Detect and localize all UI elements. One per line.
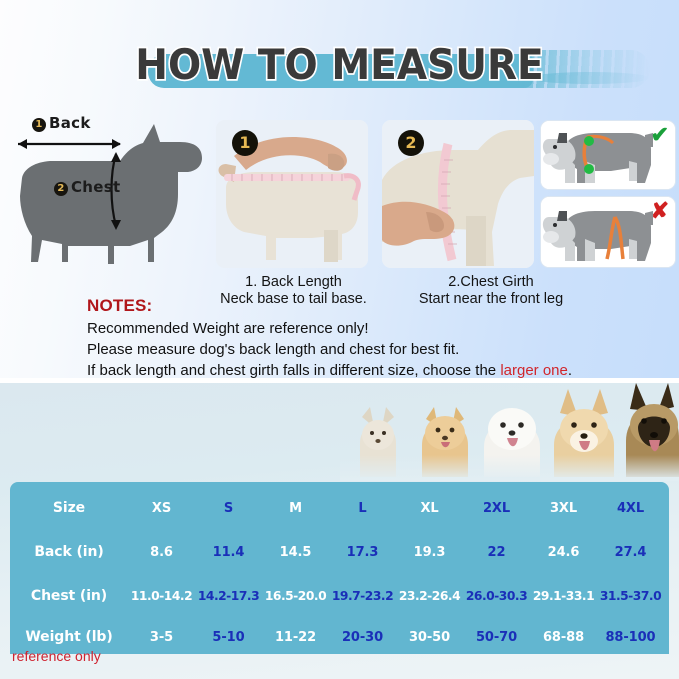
cell-weight-2xl: 50-70 (463, 630, 530, 645)
cell-chest-3xl: 29.1-33.1 (530, 589, 597, 603)
caption-back-length-line1: 1. Back Length (206, 274, 381, 291)
caption-chest-girth: 2.Chest Girth Start near the front leg (396, 274, 586, 308)
notes-line-3-highlight: larger one (500, 362, 568, 379)
row-header-chest: Chest (in) (10, 588, 128, 604)
cell-size-xs: XS (128, 501, 195, 516)
table-row-chest: Chest (in) 11.0-14.2 14.2-17.3 16.5-20.0… (10, 574, 669, 618)
cell-back-xl: 19.3 (396, 545, 463, 560)
back-label-text: Back (49, 114, 91, 132)
back-length-photo: 1 (216, 120, 368, 268)
cell-size-3xl: 3XL (530, 501, 597, 516)
row-header-back: Back (in) (10, 544, 128, 560)
reference-only-footnote: reference only (12, 648, 101, 664)
cell-size-l: L (329, 501, 396, 516)
incorrect-fit-photo: ✘ (540, 196, 676, 268)
back-measure-label: 1Back (32, 114, 91, 132)
cell-chest-s: 14.2-17.3 (195, 589, 262, 603)
cell-back-l: 17.3 (329, 545, 396, 560)
title-banner: HOW TO MEASURE (0, 36, 679, 98)
cell-weight-xs: 3-5 (128, 630, 195, 645)
cell-size-m: M (262, 501, 329, 516)
table-row-size: Size XS S M L XL 2XL 3XL 4XL (10, 486, 669, 530)
row-header-weight: Weight (lb) (10, 629, 128, 645)
cell-weight-m: 11-22 (262, 630, 329, 645)
cell-back-m: 14.5 (262, 545, 329, 560)
row-header-size: Size (10, 500, 128, 516)
table-row-weight: Weight (lb) 3-5 5-10 11-22 20-30 30-50 5… (10, 615, 669, 659)
cell-chest-xs: 11.0-14.2 (128, 589, 195, 603)
cell-size-4xl: 4XL (597, 501, 664, 516)
dog-silhouette-svg (2, 112, 214, 282)
cell-back-s: 11.4 (195, 545, 262, 560)
cell-weight-xl: 30-50 (396, 630, 463, 645)
cell-chest-m: 16.5-20.0 (262, 589, 329, 603)
badge-two-icon: 2 (54, 182, 68, 196)
cell-chest-2xl: 26.0-30.3 (463, 589, 530, 603)
cell-weight-3xl: 68-88 (530, 630, 597, 645)
caption-back-length: 1. Back Length Neck base to tail base. (206, 274, 381, 308)
step-2-badge: 2 (398, 130, 424, 156)
page-title: HOW TO MEASURE (24, 36, 655, 94)
badge-one-icon: 1 (32, 118, 46, 132)
chest-label-text: Chest (71, 178, 120, 196)
check-icon: ✔ (651, 124, 669, 146)
cell-chest-xl: 23.2-26.4 (396, 589, 463, 603)
cell-back-3xl: 24.6 (530, 545, 597, 560)
cell-chest-l: 19.7-23.2 (329, 589, 396, 603)
notes-title: NOTES: (87, 296, 152, 316)
cell-chest-4xl: 31.5-37.0 (597, 589, 664, 603)
size-chart-page: HOW TO MEASURE 1Back 2Chest (0, 0, 679, 679)
notes-line-1: Recommended Weight are reference only! (87, 318, 572, 339)
cell-weight-l: 20-30 (329, 630, 396, 645)
size-chart-table: Size XS S M L XL 2XL 3XL 4XL Back (in) 8… (10, 482, 669, 654)
cell-size-xl: XL (396, 501, 463, 516)
cell-back-xs: 8.6 (128, 545, 195, 560)
notes-body: Recommended Weight are reference only! P… (87, 318, 572, 381)
caption-chest-girth-line1: 2.Chest Girth (396, 274, 586, 291)
chest-girth-photo: 2 (382, 120, 534, 268)
cell-weight-4xl: 88-100 (597, 630, 664, 645)
cell-size-2xl: 2XL (463, 501, 530, 516)
correct-fit-photo: ✔ (540, 120, 676, 190)
caption-chest-girth-line2: Start near the front leg (396, 291, 586, 308)
dog-breeds-band (340, 383, 679, 481)
caption-back-length-line2: Neck base to tail base. (206, 291, 381, 308)
cell-size-s: S (195, 501, 262, 516)
notes-line-2: Please measure dog's back length and che… (87, 339, 572, 360)
table-row-back: Back (in) 8.6 11.4 14.5 17.3 19.3 22 24.… (10, 530, 669, 574)
dog-breeds-illustration (340, 383, 679, 481)
chest-measure-label: 2Chest (54, 178, 120, 196)
top-section: HOW TO MEASURE 1Back 2Chest (0, 0, 679, 378)
dog-silhouette-diagram: 1Back 2Chest (2, 112, 214, 282)
notes-line-3-pre: If back length and chest girth falls in … (87, 362, 500, 379)
notes-line-3-post: . (568, 362, 572, 379)
cross-icon: ✘ (651, 200, 669, 222)
step-1-badge: 1 (232, 130, 258, 156)
cell-back-2xl: 22 (463, 545, 530, 560)
cell-back-4xl: 27.4 (597, 545, 664, 560)
cell-weight-s: 5-10 (195, 630, 262, 645)
